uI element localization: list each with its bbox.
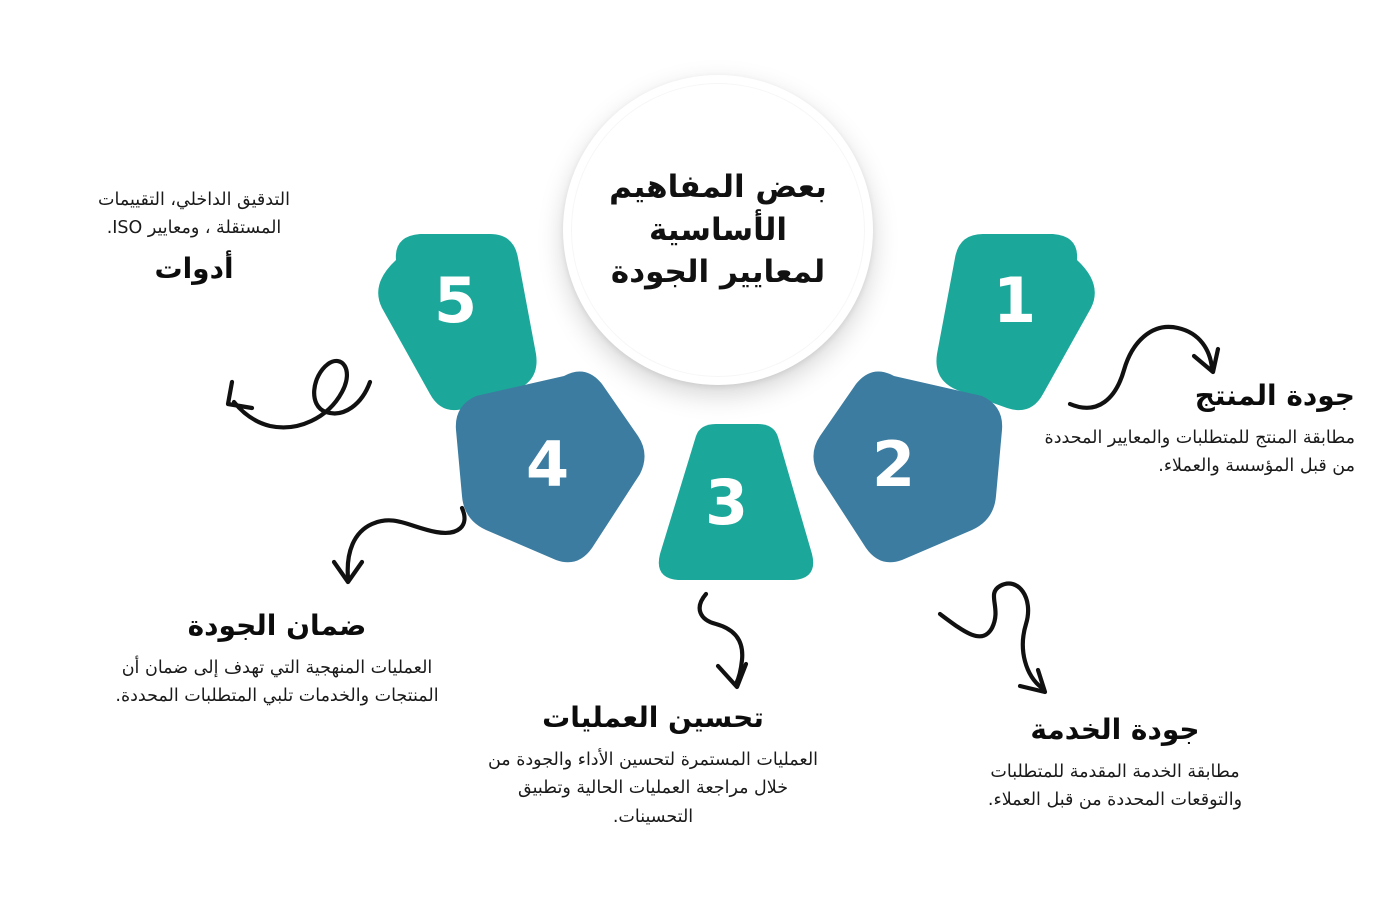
step-desc-5: التدقيق الداخلي، التقييمات المستقلة ، وم…	[94, 186, 294, 243]
step-text-2: جودة الخدمة مطابقة الخدمة المقدمة للمتطل…	[965, 712, 1265, 815]
center-title: بعض المفاهيم الأساسية لمعايير الجودة	[603, 166, 833, 294]
step-title-1: جودة المنتج	[1025, 378, 1355, 413]
step-desc-4: العمليات المنهجية التي تهدف إلى ضمان أن …	[92, 654, 462, 711]
step-title-3: تحسين العمليات	[483, 700, 823, 735]
step-shape-4[interactable]: 4	[452, 362, 652, 572]
step-title-5: أدوات	[94, 251, 294, 286]
step-title-4: ضمان الجودة	[92, 608, 462, 643]
arrow-to-step-3-icon	[690, 588, 800, 698]
step-desc-1: مطابقة المنتج للمتطلبات والمعايير المحدد…	[1025, 424, 1355, 481]
step-shape-2[interactable]: 2	[806, 362, 1006, 572]
arrow-to-step-2-icon	[938, 558, 1108, 708]
arrow-to-step-5-icon	[212, 330, 382, 440]
center-circle-inner: بعض المفاهيم الأساسية لمعايير الجودة	[571, 83, 865, 377]
step-desc-3: العمليات المستمرة لتحسين الأداء والجودة …	[483, 746, 823, 831]
step-shape-3[interactable]: 3	[646, 420, 826, 590]
infographic-canvas: 5 1 4 2 3	[0, 0, 1395, 911]
step-desc-2: مطابقة الخدمة المقدمة للمتطلبات والتوقعا…	[965, 758, 1265, 815]
step-text-5: التدقيق الداخلي، التقييمات المستقلة ، وم…	[94, 186, 294, 286]
step-text-4: ضمان الجودة العمليات المنهجية التي تهدف …	[92, 608, 462, 711]
step-text-1: جودة المنتج مطابقة المنتج للمتطلبات والم…	[1025, 378, 1355, 481]
step-text-3: تحسين العمليات العمليات المستمرة لتحسين …	[483, 700, 823, 831]
center-circle: بعض المفاهيم الأساسية لمعايير الجودة	[563, 75, 873, 385]
step-title-2: جودة الخدمة	[965, 712, 1265, 747]
